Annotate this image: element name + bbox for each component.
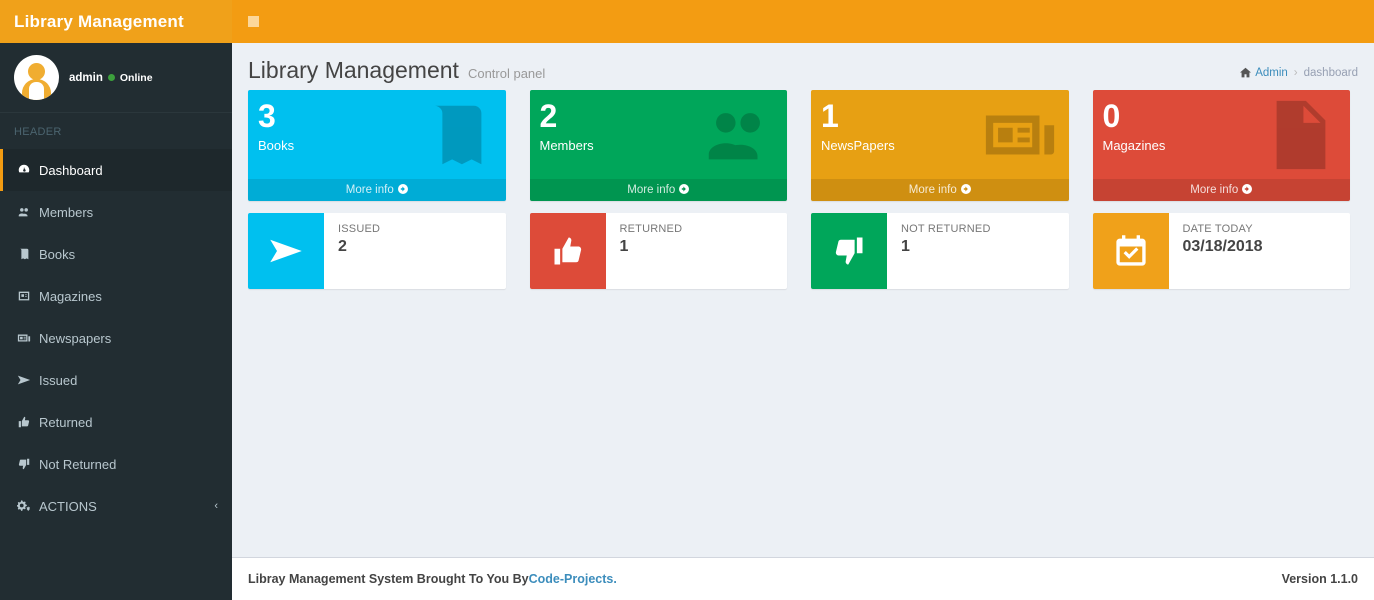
paper-plane-icon-wrap <box>17 373 39 387</box>
info-box-text: NOT RETURNED <box>901 223 991 235</box>
sidebar-item-label: ACTIONS <box>39 499 97 514</box>
user-info: admin Online <box>69 72 153 84</box>
info-box-number: 2 <box>338 238 380 256</box>
sidebar-item-label: Issued <box>39 373 77 388</box>
gears-icon <box>17 499 31 513</box>
stat-box-inner: 2Members <box>530 90 788 179</box>
stat-box-count: 1 <box>821 98 1059 138</box>
stat-box-count: 0 <box>1103 98 1341 138</box>
newspaper-icon-wrap <box>17 331 39 345</box>
footer-text: Libray Management System Brought To You … <box>248 572 529 586</box>
sidebar: admin Online HEADER DashboardMembersBook… <box>0 43 232 600</box>
circle-arrow-right-icon-wrap <box>961 184 971 196</box>
sidebar-item-books[interactable]: Books <box>0 233 232 275</box>
footer-link[interactable]: Code-Projects. <box>529 572 617 586</box>
app-logo[interactable]: Library Management <box>0 0 232 43</box>
top-navbar: Library Management <box>0 0 1374 43</box>
users-icon-wrap <box>17 205 39 219</box>
stat-box-wrapper: 0MagazinesMore info <box>1093 90 1374 201</box>
breadcrumb-home-label: Admin <box>1255 67 1288 79</box>
info-box-number: 1 <box>901 238 991 256</box>
breadcrumb-current: dashboard <box>1304 67 1358 79</box>
stat-box-wrapper: 2MembersMore info <box>530 90 812 201</box>
bars-icon <box>248 16 259 27</box>
more-info-label: More info <box>627 184 675 196</box>
thumbs-up-icon <box>550 233 586 269</box>
more-info-label: More info <box>346 184 394 196</box>
sidebar-menu: DashboardMembersBooksMagazinesNewspapers… <box>0 149 232 527</box>
avatar-head <box>28 63 45 80</box>
dashboard-icon <box>17 163 31 177</box>
stat-box-wrapper: 3BooksMore info <box>248 90 530 201</box>
stat-box-members[interactable]: 2MembersMore info <box>530 90 788 201</box>
stat-box-inner: 1NewsPapers <box>811 90 1069 179</box>
breadcrumb-home[interactable]: Admin <box>1240 67 1288 79</box>
info-box-content: NOT RETURNED1 <box>887 213 1001 289</box>
sidebar-item-label: Books <box>39 247 75 262</box>
stat-box-inner: 0Magazines <box>1093 90 1351 179</box>
online-status-icon <box>108 74 115 81</box>
circle-arrow-right-icon <box>398 184 408 194</box>
main-content: Library Management Control panel Admin ›… <box>232 43 1374 600</box>
sidebar-item-label: Newspapers <box>39 331 111 346</box>
info-box-wrapper: DATE TODAY03/18/2018 <box>1093 213 1374 289</box>
info-box-wrapper: ISSUED2 <box>248 213 530 289</box>
magazine-icon-wrap <box>17 289 39 303</box>
sidebar-item-label: Members <box>39 205 93 220</box>
sidebar-item-dashboard[interactable]: Dashboard <box>0 149 232 191</box>
sidebar-item-not-returned[interactable]: Not Returned <box>0 443 232 485</box>
paper-plane-icon <box>268 233 304 269</box>
application-root: Library Management admin Online HEADER D… <box>0 0 1374 600</box>
info-box-content: ISSUED2 <box>324 213 390 289</box>
info-box-wrapper: RETURNED1 <box>530 213 812 289</box>
chevron-left-icon: ‹ <box>214 500 218 512</box>
book-icon <box>17 247 31 261</box>
circle-arrow-right-icon <box>679 184 689 194</box>
info-box-text: DATE TODAY <box>1183 223 1263 235</box>
app-logo-label: Library Management <box>14 12 184 32</box>
sidebar-item-newspapers[interactable]: Newspapers <box>0 317 232 359</box>
dashboard-icon-wrap <box>17 163 39 177</box>
info-box-number: 1 <box>620 238 683 256</box>
sidebar-item-members[interactable]: Members <box>0 191 232 233</box>
breadcrumb-separator: › <box>1294 67 1298 79</box>
info-box-icon <box>1093 213 1169 289</box>
more-info-label: More info <box>909 184 957 196</box>
stat-box-more-info-link[interactable]: More info <box>811 179 1069 201</box>
thumbs-down-icon-wrap <box>17 457 39 471</box>
info-box-text: ISSUED <box>338 223 380 235</box>
thumbs-down-icon <box>831 233 867 269</box>
gears-icon-wrap <box>17 499 39 513</box>
sidebar-item-issued[interactable]: Issued <box>0 359 232 401</box>
home-icon <box>1240 67 1251 78</box>
stat-box-books[interactable]: 3BooksMore info <box>248 90 506 201</box>
sidebar-item-returned[interactable]: Returned <box>0 401 232 443</box>
page-title: Library Management <box>248 57 459 84</box>
calendar-check-icon <box>1113 233 1149 269</box>
info-box-not-returned[interactable]: NOT RETURNED1 <box>811 213 1069 289</box>
sidebar-item-actions[interactable]: ACTIONS‹ <box>0 485 232 527</box>
stat-box-label: NewsPapers <box>821 138 1059 179</box>
info-boxes-row: ISSUED2RETURNED1NOT RETURNED1DATE TODAY0… <box>232 201 1374 289</box>
footer-version: Version 1.1.0 <box>1282 572 1358 586</box>
info-box-content: RETURNED1 <box>606 213 693 289</box>
thumbs-down-icon <box>17 457 31 471</box>
avatar <box>14 55 59 100</box>
info-box-icon <box>248 213 324 289</box>
stat-box-label: Books <box>258 138 496 179</box>
thumbs-up-icon <box>17 415 31 429</box>
users-icon <box>17 205 31 219</box>
info-box-icon <box>530 213 606 289</box>
stat-box-more-info-link[interactable]: More info <box>530 179 788 201</box>
stat-box-inner: 3Books <box>248 90 506 179</box>
circle-arrow-right-icon-wrap <box>679 184 689 196</box>
sidebar-item-label: Not Returned <box>39 457 116 472</box>
sidebar-item-label: Returned <box>39 415 92 430</box>
stat-box-more-info-link[interactable]: More info <box>1093 179 1351 201</box>
stat-box-wrapper: 1NewsPapersMore info <box>811 90 1093 201</box>
stat-box-label: Magazines <box>1103 138 1341 179</box>
info-box-wrapper: NOT RETURNED1 <box>811 213 1093 289</box>
sidebar-toggle-button[interactable] <box>232 0 274 43</box>
stat-box-more-info-link[interactable]: More info <box>248 179 506 201</box>
breadcrumb: Admin › dashboard <box>1240 67 1358 79</box>
content-header: Library Management Control panel Admin ›… <box>232 43 1374 90</box>
circle-arrow-right-icon-wrap <box>1242 184 1252 196</box>
sidebar-item-label: Dashboard <box>39 163 103 178</box>
sidebar-menu-header: HEADER <box>0 113 232 149</box>
thumbs-up-icon-wrap <box>17 415 39 429</box>
avatar-shirt <box>29 82 44 100</box>
sidebar-item-label: Magazines <box>39 289 102 304</box>
magazine-icon <box>17 289 31 303</box>
user-name: admin <box>69 72 103 84</box>
circle-arrow-right-icon <box>961 184 971 194</box>
navbar-right <box>232 0 1374 43</box>
sidebar-item-magazines[interactable]: Magazines <box>0 275 232 317</box>
stat-box-count: 2 <box>540 98 778 138</box>
more-info-label: More info <box>1190 184 1238 196</box>
info-box-returned[interactable]: RETURNED1 <box>530 213 788 289</box>
user-status: Online <box>120 72 153 84</box>
info-box-issued[interactable]: ISSUED2 <box>248 213 506 289</box>
stat-box-newspapers[interactable]: 1NewsPapersMore info <box>811 90 1069 201</box>
book-icon-wrap <box>17 247 39 261</box>
stat-box-magazines[interactable]: 0MagazinesMore info <box>1093 90 1351 201</box>
stat-box-label: Members <box>540 138 778 179</box>
info-box-icon <box>811 213 887 289</box>
stat-box-count: 3 <box>258 98 496 138</box>
info-box-number: 03/18/2018 <box>1183 238 1263 256</box>
user-panel: admin Online <box>0 43 232 113</box>
circle-arrow-right-icon-wrap <box>398 184 408 196</box>
newspaper-icon <box>17 331 31 345</box>
info-box-content: DATE TODAY03/18/2018 <box>1169 213 1273 289</box>
circle-arrow-right-icon <box>1242 184 1252 194</box>
info-box-text: RETURNED <box>620 223 683 235</box>
info-box-date-today[interactable]: DATE TODAY03/18/2018 <box>1093 213 1351 289</box>
stat-boxes-row: 3BooksMore info2MembersMore info1NewsPap… <box>232 90 1374 201</box>
paper-plane-icon <box>17 373 31 387</box>
page-footer: Libray Management System Brought To You … <box>232 557 1374 600</box>
page-subtitle: Control panel <box>468 66 545 81</box>
